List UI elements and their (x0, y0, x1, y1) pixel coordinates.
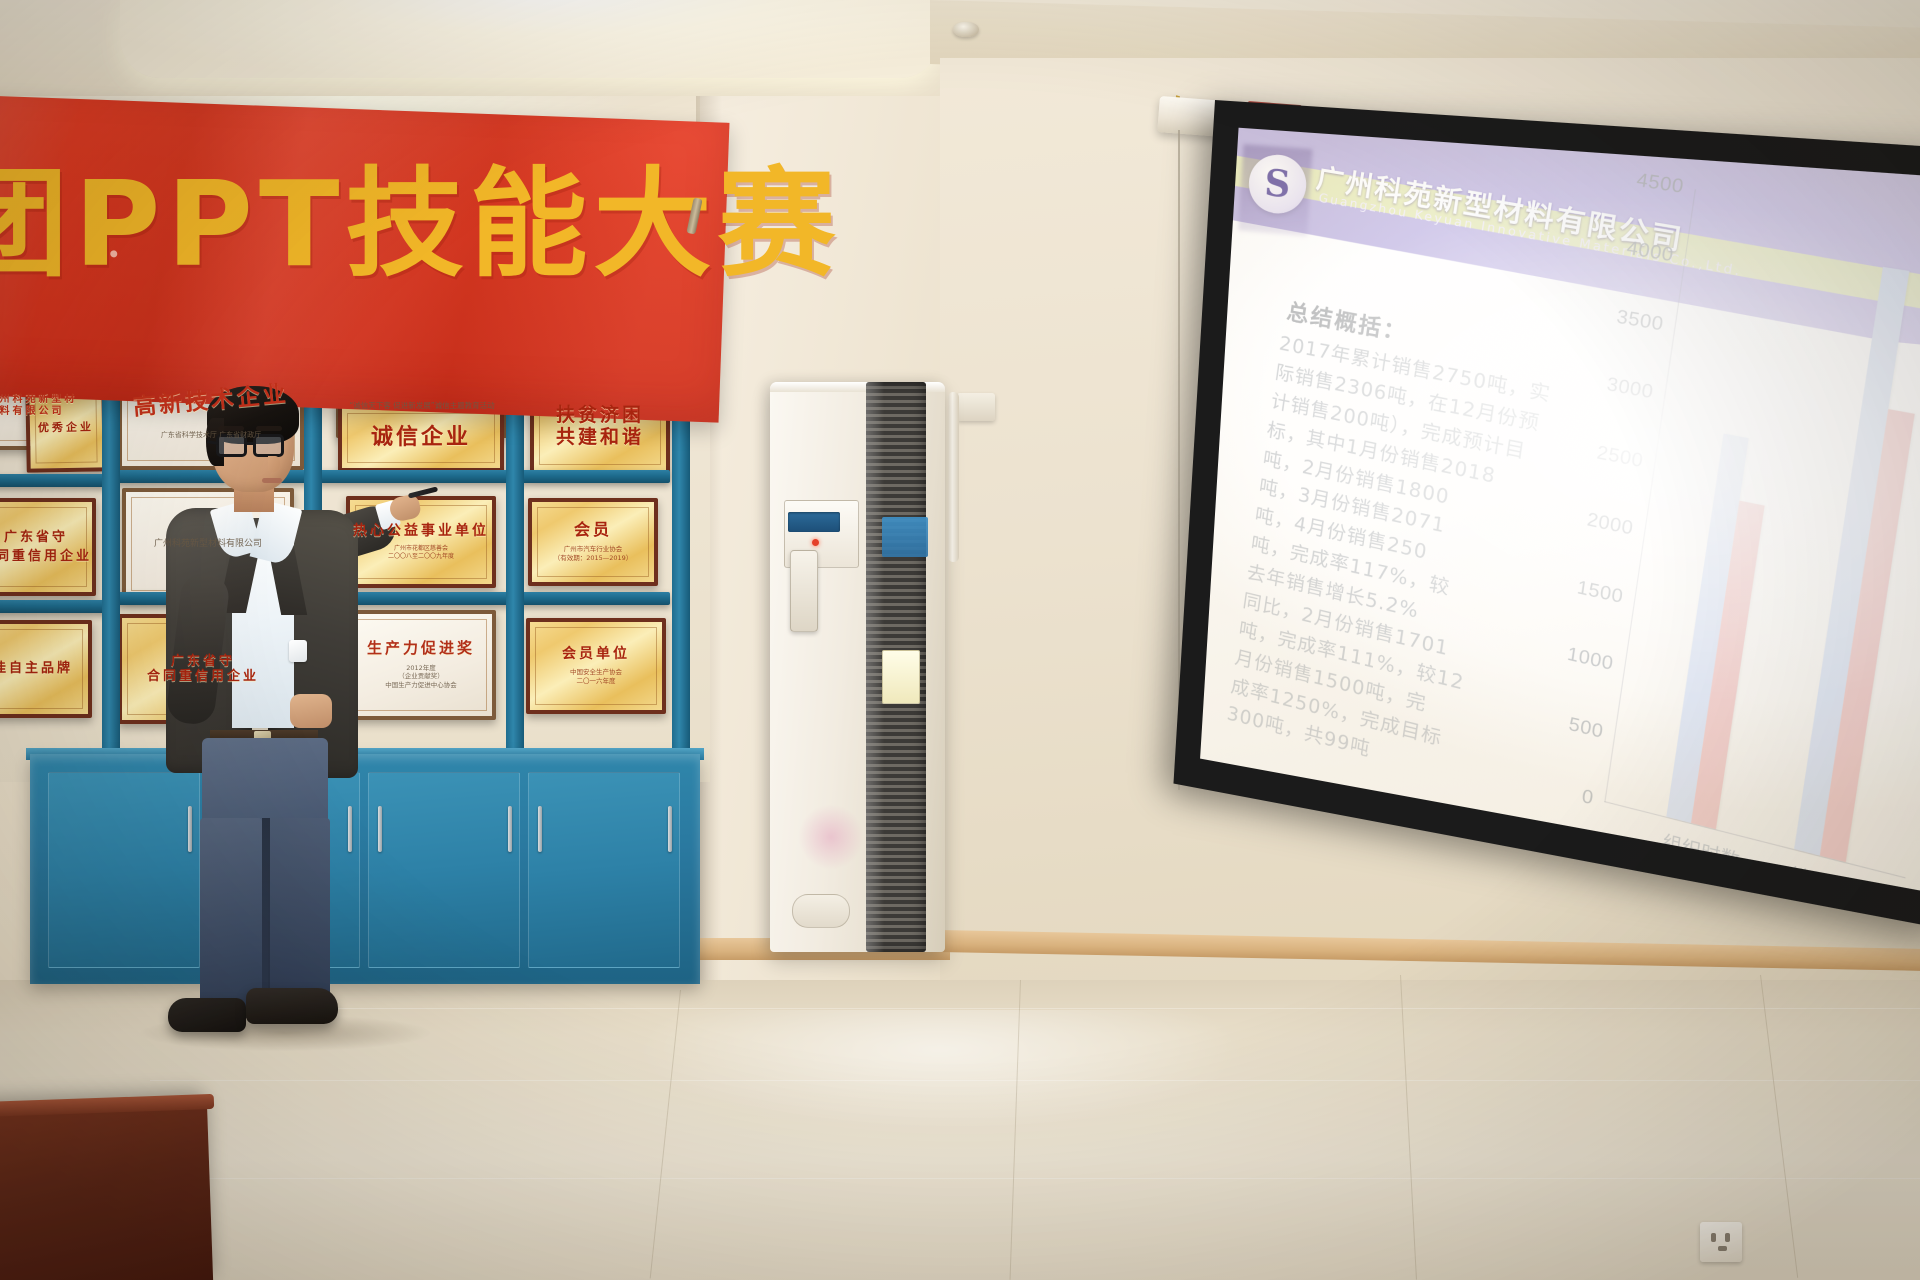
plaque-title: 佳自主品牌 (0, 661, 73, 676)
socket-slot (1711, 1233, 1716, 1242)
cabinet-handle[interactable] (538, 806, 542, 852)
presenter-nose (268, 456, 280, 472)
projection-surface: S 广州科苑新型材料有限公司 Guangzhou Keyuan Innovati… (1200, 128, 1920, 892)
conference-room-photo: 广州科苑新型材料有限公司 优秀企业 高新技术企业 广东省科学技术厅 广东省财政厅… (0, 0, 1920, 1280)
presenter-mouth (262, 478, 282, 483)
chart-bar-group: 组织时数 (1666, 434, 1783, 832)
plaque-title: 会员 (574, 521, 612, 540)
plaque-title: 优秀企业 (38, 421, 94, 435)
plaque-subtitle: 广州市汽车行业协会 （有效期：2015—2019） (554, 545, 633, 563)
cabinet-handle[interactable] (508, 806, 512, 852)
power-socket-icon (1700, 1222, 1742, 1262)
plaque-border (537, 507, 649, 577)
shelf-board (0, 600, 110, 613)
plaque-title: 诚信企业 (371, 425, 471, 451)
chart-y-tick-label: 500 (1567, 713, 1605, 743)
socket-slot (1725, 1233, 1730, 1242)
plaque-border (535, 627, 657, 705)
ac-remote-holder[interactable] (790, 550, 818, 632)
chart-x-tick-label: 销售金额 (1789, 859, 1873, 892)
wall-bracket (957, 393, 995, 421)
plaque: 广东省守 合同重信用企业 (0, 498, 96, 596)
presenter-shoe-right (246, 988, 338, 1024)
shelf-post (102, 352, 120, 752)
glasses-bridge (247, 442, 254, 445)
chart-y-tick-label: 3000 (1605, 373, 1655, 404)
ac-lower-grille (792, 894, 850, 928)
smoke-detector-icon (953, 22, 979, 37)
presenter-jeans-seam (262, 818, 270, 1003)
plaque-title: 扶贫济困 共建和谐 (556, 404, 644, 449)
chart-bar-group: 销售金额 (1794, 267, 1920, 865)
plaque-subtitle: 广东省科学技术厅 广东省财政厅 (161, 431, 261, 440)
plaque-title: 广州科苑新型材料有限公司 (0, 394, 82, 418)
shelf-board (0, 474, 110, 487)
plaque-subtitle: 2012年度 （企业贡献奖） 中国生产力促进中心协会 (385, 664, 457, 690)
ac-display-screen (788, 512, 840, 532)
socket-slot (1718, 1246, 1727, 1251)
presenter-hand-in-pocket (290, 694, 332, 728)
plaque-title: 会员单位 (562, 646, 630, 663)
cabinet-handle[interactable] (668, 806, 672, 852)
ac-conduit-pipe (948, 392, 959, 562)
plaque: 会员 广州市汽车行业协会 （有效期：2015—2019） (528, 498, 658, 586)
foreground-table (0, 1096, 213, 1280)
chart-y-tick-label: 1000 (1566, 643, 1615, 675)
presentation-slide: S 广州科苑新型材料有限公司 Guangzhou Keyuan Innovati… (1200, 128, 1920, 892)
plaque: 佳自主品牌 (0, 620, 92, 718)
ac-power-led-icon (812, 539, 819, 546)
chart-y-tick-label: 1500 (1576, 576, 1625, 608)
floor-grout-line (80, 1178, 1920, 1179)
plaque-subtitle: “诚信天下客 促进新发展”诚信主题教育活动 (349, 401, 494, 411)
plaque-subtitle: 广州市花都区慈善会 二〇〇八至二〇〇九年度 (388, 545, 454, 561)
presenter-leg-right (268, 818, 330, 1016)
presenter (150, 378, 430, 1058)
chart-y-tick-label: 2000 (1586, 509, 1635, 541)
plaque-title: 热心公益事业单位 (353, 523, 489, 540)
plaque-title: 生产力促进奖 (367, 640, 475, 658)
floor-grout-line (150, 1080, 1920, 1081)
banner-title-text: 团PPT技能大赛 (0, 128, 770, 299)
presenter-shoe-left (168, 998, 246, 1032)
ac-energy-sticker (882, 650, 920, 704)
plaque-title: 广东省守 合同重信用企业 (0, 528, 92, 567)
plaque: 会员单位 中国安全生产协会 二〇一六年度 (526, 618, 666, 714)
chart-y-tick-label: 4000 (1625, 237, 1675, 267)
ceiling-cove-light (120, 0, 940, 78)
chart-y-tick-label: 3500 (1615, 305, 1665, 335)
cabinet-door[interactable] (528, 772, 680, 968)
plaque-title: 广东省守 合同重信用企业 (147, 654, 259, 685)
chart-y-tick-label: 2500 (1595, 441, 1644, 472)
floor-standing-air-conditioner[interactable] (770, 382, 945, 952)
plaque-subtitle: 中国安全生产协会 二〇一六年度 (570, 668, 622, 686)
presenter-name-badge (289, 640, 307, 662)
plaque-subtitle: 广州科苑新型材料有限公司 (154, 538, 262, 550)
ac-brand-label (882, 517, 928, 557)
floor-grout-line (210, 1008, 1920, 1009)
chart-y-tick-label: 0 (1580, 785, 1595, 810)
ac-floral-decal (796, 802, 866, 872)
